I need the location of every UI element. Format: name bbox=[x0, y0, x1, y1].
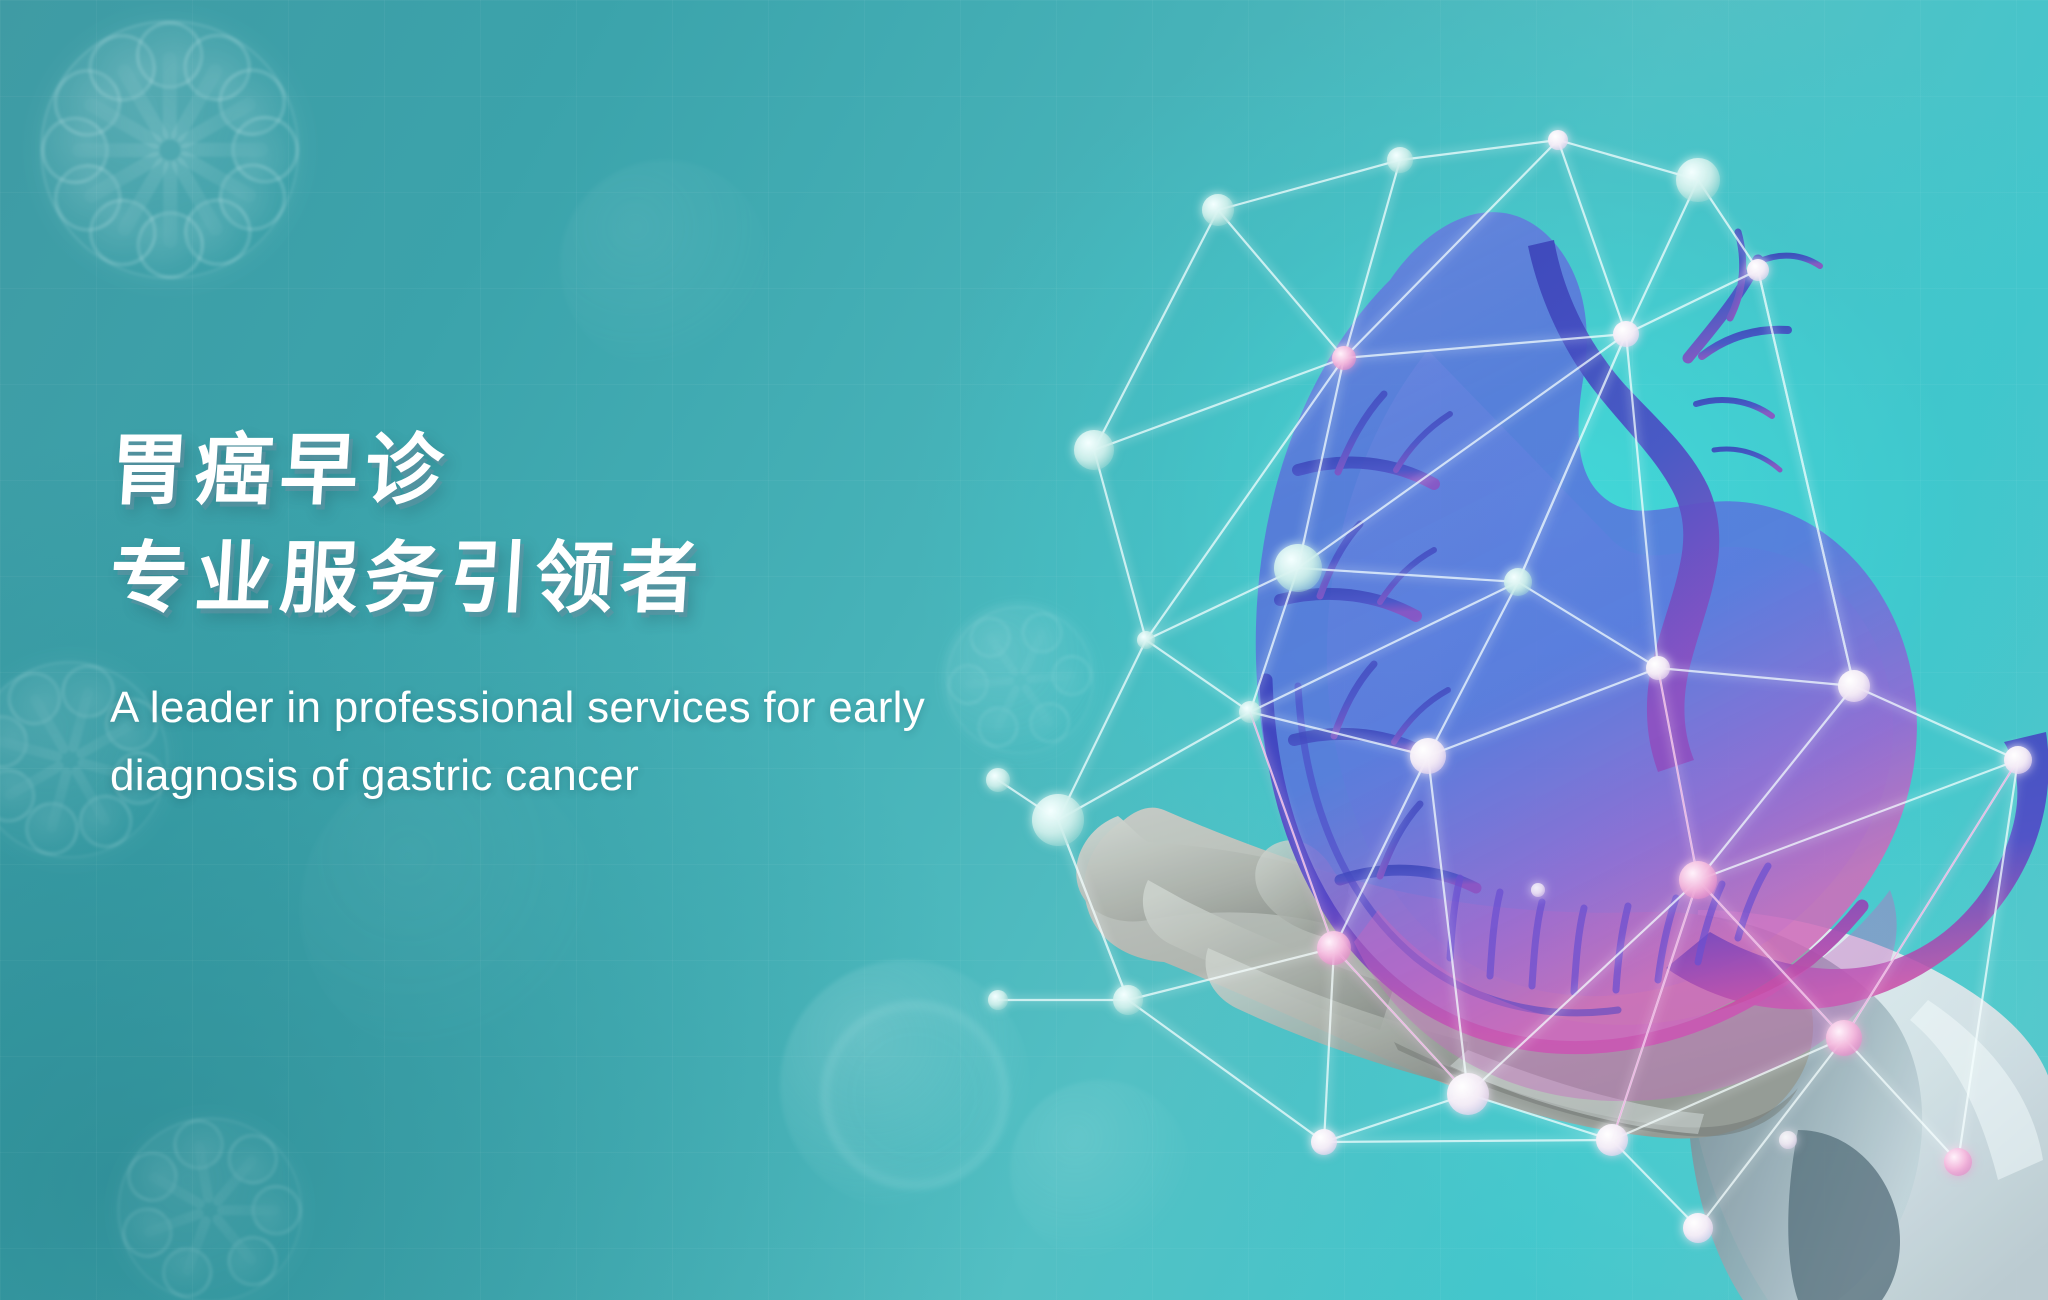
hand-finger-index bbox=[1076, 816, 1350, 928]
network-node bbox=[1274, 544, 1322, 592]
sleeve-inner-shadow bbox=[1788, 1130, 1900, 1300]
network-node bbox=[1683, 1213, 1713, 1243]
stomach-vessel-branches bbox=[1688, 232, 1820, 470]
virus-spike bbox=[44, 134, 170, 166]
network-accent-edges bbox=[1250, 668, 2018, 1140]
network-edges bbox=[998, 140, 2018, 1228]
virus-spike bbox=[122, 1199, 214, 1251]
virus-spike bbox=[154, 150, 186, 276]
network-node bbox=[1410, 738, 1446, 774]
blurred-cell-background bbox=[820, 1000, 1010, 1190]
network-node bbox=[1447, 1073, 1489, 1115]
virus-spike bbox=[53, 73, 178, 163]
stomach-rim bbox=[1266, 680, 1862, 1048]
polygonal-network-overlay bbox=[986, 130, 2032, 1243]
virus-spike bbox=[210, 1199, 300, 1222]
network-node bbox=[1676, 158, 1720, 202]
network-node bbox=[1679, 861, 1717, 899]
stomach-duodenum bbox=[1666, 732, 2048, 1009]
virus-spike bbox=[183, 1119, 221, 1212]
network-node bbox=[1113, 985, 1143, 1015]
banner-subtitle: A leader in professional services for ea… bbox=[110, 674, 1090, 810]
hand-palm bbox=[1084, 808, 1813, 1139]
network-node bbox=[1202, 194, 1234, 226]
stomach-organ-illustration bbox=[1256, 212, 2048, 1101]
headline-line-1: 胃癌早诊 bbox=[107, 420, 1093, 522]
virus-spike bbox=[58, 664, 106, 763]
virus-spike bbox=[53, 136, 178, 226]
network-node bbox=[1646, 656, 1670, 680]
network-node bbox=[1747, 259, 1769, 281]
stomach-lower-tint bbox=[1354, 890, 1897, 1101]
network-node bbox=[1137, 631, 1155, 649]
virus-spike bbox=[156, 33, 246, 158]
hand-shadow bbox=[1394, 1042, 1798, 1137]
hand-finger-ring bbox=[1206, 948, 1468, 1086]
virus-spike bbox=[201, 1203, 276, 1286]
virus-core bbox=[40, 20, 300, 280]
virus-spike bbox=[93, 33, 183, 158]
virus-spike bbox=[0, 724, 73, 772]
stomach-esophagus bbox=[1528, 240, 1719, 772]
network-node bbox=[2004, 746, 2032, 774]
network-node bbox=[1311, 1129, 1337, 1155]
network-node bbox=[1387, 147, 1413, 173]
sleeve-cuff-shadow bbox=[1687, 915, 1922, 1300]
network-node bbox=[988, 990, 1008, 1010]
virus-spike bbox=[162, 73, 287, 163]
hand-finger-middle bbox=[1143, 880, 1394, 1030]
network-node bbox=[1531, 883, 1545, 897]
stomach-vessels-left bbox=[1280, 394, 1476, 888]
hero-banner: 胃癌早诊 专业服务引领者 A leader in professional se… bbox=[0, 0, 2048, 1300]
network-node bbox=[1944, 1148, 1972, 1176]
virus-spike bbox=[156, 142, 246, 267]
network-node bbox=[1332, 346, 1356, 370]
network-node bbox=[1613, 321, 1639, 347]
sleeve-highlight bbox=[1910, 1000, 2043, 1180]
virus-spike bbox=[34, 757, 82, 856]
network-node bbox=[1239, 701, 1261, 723]
virus-spike bbox=[12, 671, 81, 766]
blurred-cell-background bbox=[780, 960, 1030, 1210]
stomach-in-hand-artwork bbox=[998, 120, 2048, 1300]
virus-spike bbox=[201, 1134, 276, 1217]
network-node bbox=[1779, 1131, 1797, 1149]
stomach-rim-inner bbox=[1298, 686, 1618, 1013]
virus-particle-background bbox=[0, 0, 380, 360]
stomach-body bbox=[1256, 212, 1917, 1044]
virus-spike bbox=[169, 1206, 221, 1298]
open-hand-holding bbox=[1076, 808, 2048, 1300]
stomach-rugae bbox=[1450, 866, 1768, 992]
network-node bbox=[1504, 568, 1532, 596]
virus-core bbox=[117, 1117, 303, 1300]
hand-thumb bbox=[1255, 840, 1350, 940]
headline-line-2: 专业服务引领者 bbox=[107, 528, 1093, 630]
network-node bbox=[1838, 670, 1870, 702]
virus-spike bbox=[154, 24, 186, 150]
network-nodes bbox=[986, 130, 2032, 1243]
blurred-cell-background bbox=[560, 160, 770, 370]
banner-text-block: 胃癌早诊 专业服务引领者 A leader in professional se… bbox=[110, 420, 1090, 810]
stomach-inner-shade bbox=[1327, 350, 1893, 996]
virus-spike bbox=[93, 142, 183, 267]
subtitle-line-1: A leader in professional services for ea… bbox=[110, 674, 1090, 742]
virus-spike bbox=[170, 134, 296, 166]
blurred-cell-background bbox=[1010, 1080, 1190, 1260]
virus-spike bbox=[126, 1155, 215, 1219]
network-node bbox=[1826, 1020, 1862, 1056]
virus-spike bbox=[162, 136, 287, 226]
network-node bbox=[1596, 1124, 1628, 1156]
virus-spike bbox=[0, 750, 76, 819]
virus-particle-background bbox=[60, 1060, 360, 1300]
hand-highlight bbox=[1450, 1050, 1704, 1134]
network-node bbox=[1548, 130, 1568, 150]
network-node bbox=[1317, 931, 1351, 965]
lab-coat-sleeve bbox=[1688, 910, 2048, 1300]
subtitle-line-2: diagnosis of gastric cancer bbox=[110, 742, 1090, 810]
